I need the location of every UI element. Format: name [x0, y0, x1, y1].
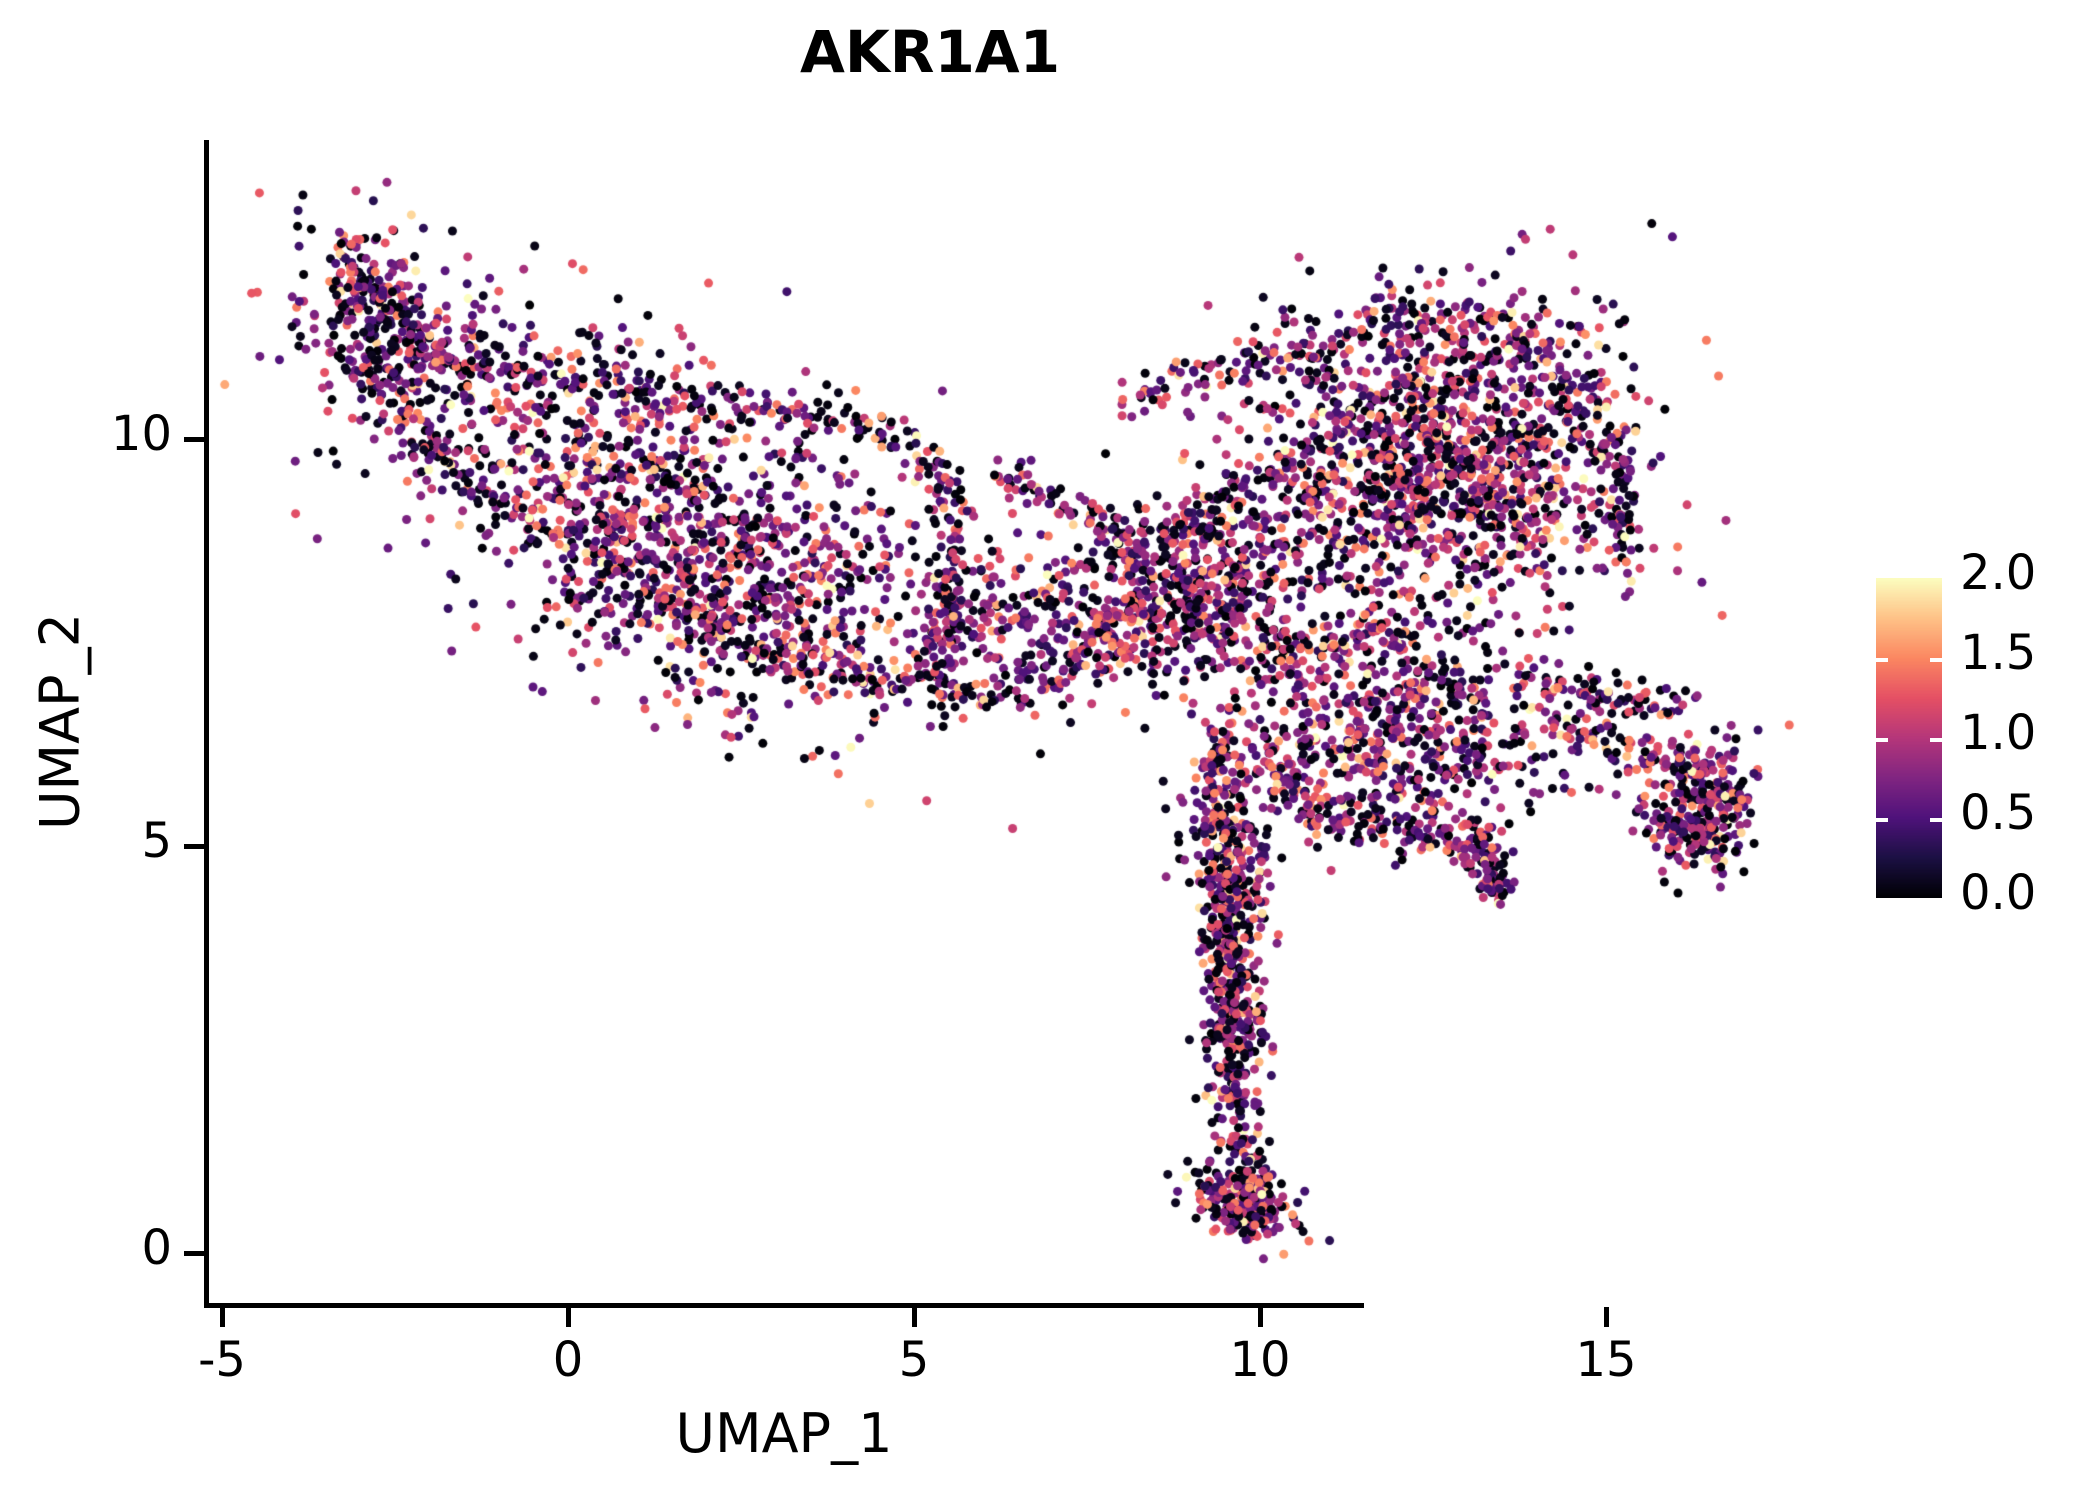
colorbar-tick-label: 0.0 [1960, 865, 2036, 921]
colorbar-tick-mark [1876, 658, 1888, 662]
colorbar-tick-mark [1930, 818, 1942, 822]
page-title: AKR1A1 [0, 18, 1860, 86]
y-tick-mark [184, 437, 204, 442]
x-tick-mark [912, 1307, 917, 1327]
colorbar-tick-label: 1.0 [1960, 705, 2036, 761]
colorbar-tick-mark [1876, 738, 1888, 742]
x-tick-label: 10 [1180, 1332, 1340, 1388]
y-tick-mark [184, 844, 204, 849]
x-tick-label: -5 [142, 1332, 302, 1388]
x-tick-mark [1604, 1307, 1609, 1327]
colorbar-tick-mark [1876, 818, 1888, 822]
colorbar-tick-mark [1930, 738, 1942, 742]
x-tick-label: 0 [488, 1332, 648, 1388]
x-tick-label: 15 [1526, 1332, 1686, 1388]
scatter-points-layer [208, 140, 1830, 1305]
y-tick-mark [184, 1251, 204, 1256]
x-tick-mark [566, 1307, 571, 1327]
colorbar-tick-label: 0.5 [1960, 785, 2036, 841]
x-tick-label: 5 [834, 1332, 994, 1388]
figure-canvas: AKR1A1 0510 -5051015 UMAP_1 UMAP_2 2.01.… [0, 0, 2100, 1500]
x-tick-mark [1258, 1307, 1263, 1327]
colorbar-tick-label: 1.5 [1960, 625, 2036, 681]
y-tick-label: 0 [10, 1220, 172, 1276]
x-axis-label: UMAP_1 [204, 1402, 1364, 1465]
plot-area [208, 140, 1830, 1305]
x-axis-spine [204, 1303, 1364, 1308]
x-tick-mark [220, 1307, 225, 1327]
colorbar-tick-label: 2.0 [1960, 545, 2036, 601]
y-axis-label: UMAP_2 [29, 372, 92, 1072]
colorbar-tick-mark [1930, 658, 1942, 662]
y-axis-spine [204, 140, 209, 1308]
